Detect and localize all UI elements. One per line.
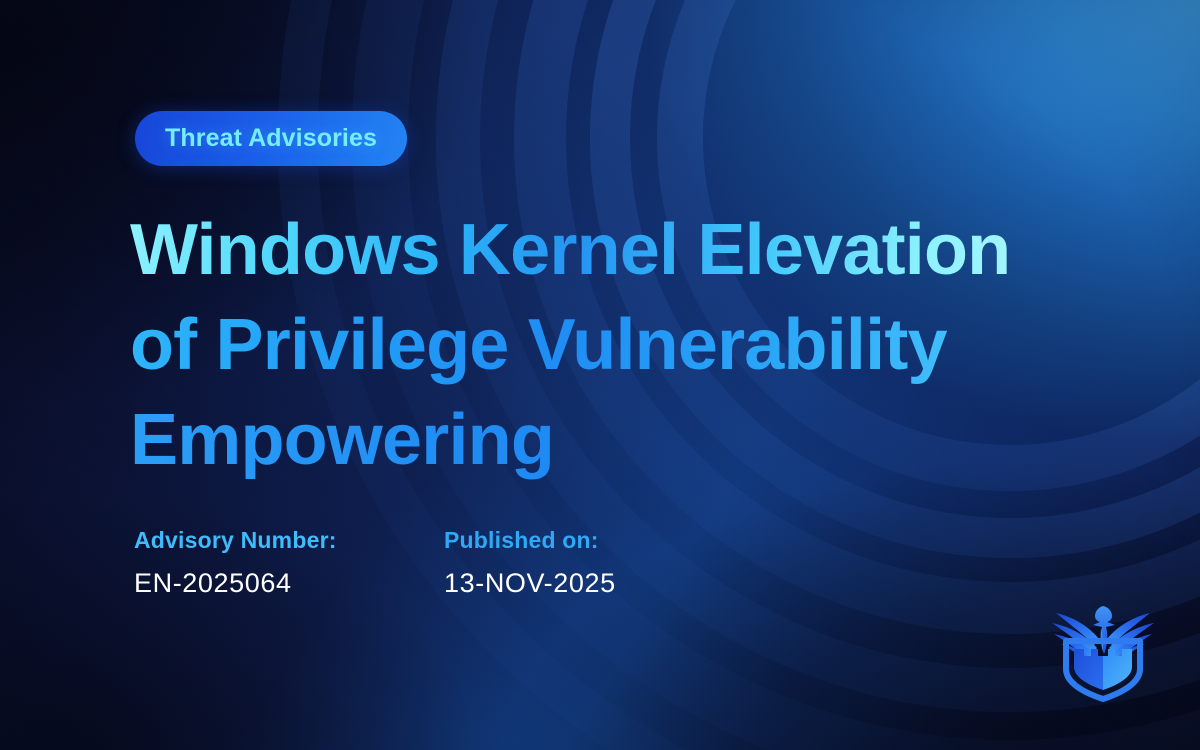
page-title-line-3: Empowering [130, 393, 1030, 488]
banner-content: Threat Advisories Windows Kernel Elevati… [0, 0, 1200, 750]
published-on-value: 13-NOV-2025 [444, 566, 754, 600]
page-title-line-2: of Privilege Vulnerability [130, 298, 1030, 393]
advisory-number-value: EN-2025064 [134, 566, 444, 600]
published-on-label: Published on: [444, 524, 754, 556]
page-title-line-1: Windows Kernel Elevation [130, 203, 1030, 298]
category-badge[interactable]: Threat Advisories [135, 111, 407, 166]
published-on-column: Published on: 13-NOV-2025 [444, 524, 754, 600]
advisory-number-column: Advisory Number: EN-2025064 [134, 524, 444, 600]
category-badge-label: Threat Advisories [165, 124, 377, 153]
threat-advisory-banner: Threat Advisories Windows Kernel Elevati… [0, 0, 1200, 750]
metadata-labels-row: Advisory Number: EN-2025064 Published on… [134, 524, 754, 600]
advisory-number-label: Advisory Number: [134, 524, 444, 556]
eagle-shield-logo-icon [1044, 594, 1162, 702]
page-title: Windows Kernel Elevation of Privilege Vu… [130, 203, 1030, 488]
advisory-metadata: Advisory Number: EN-2025064 Published on… [134, 524, 754, 600]
